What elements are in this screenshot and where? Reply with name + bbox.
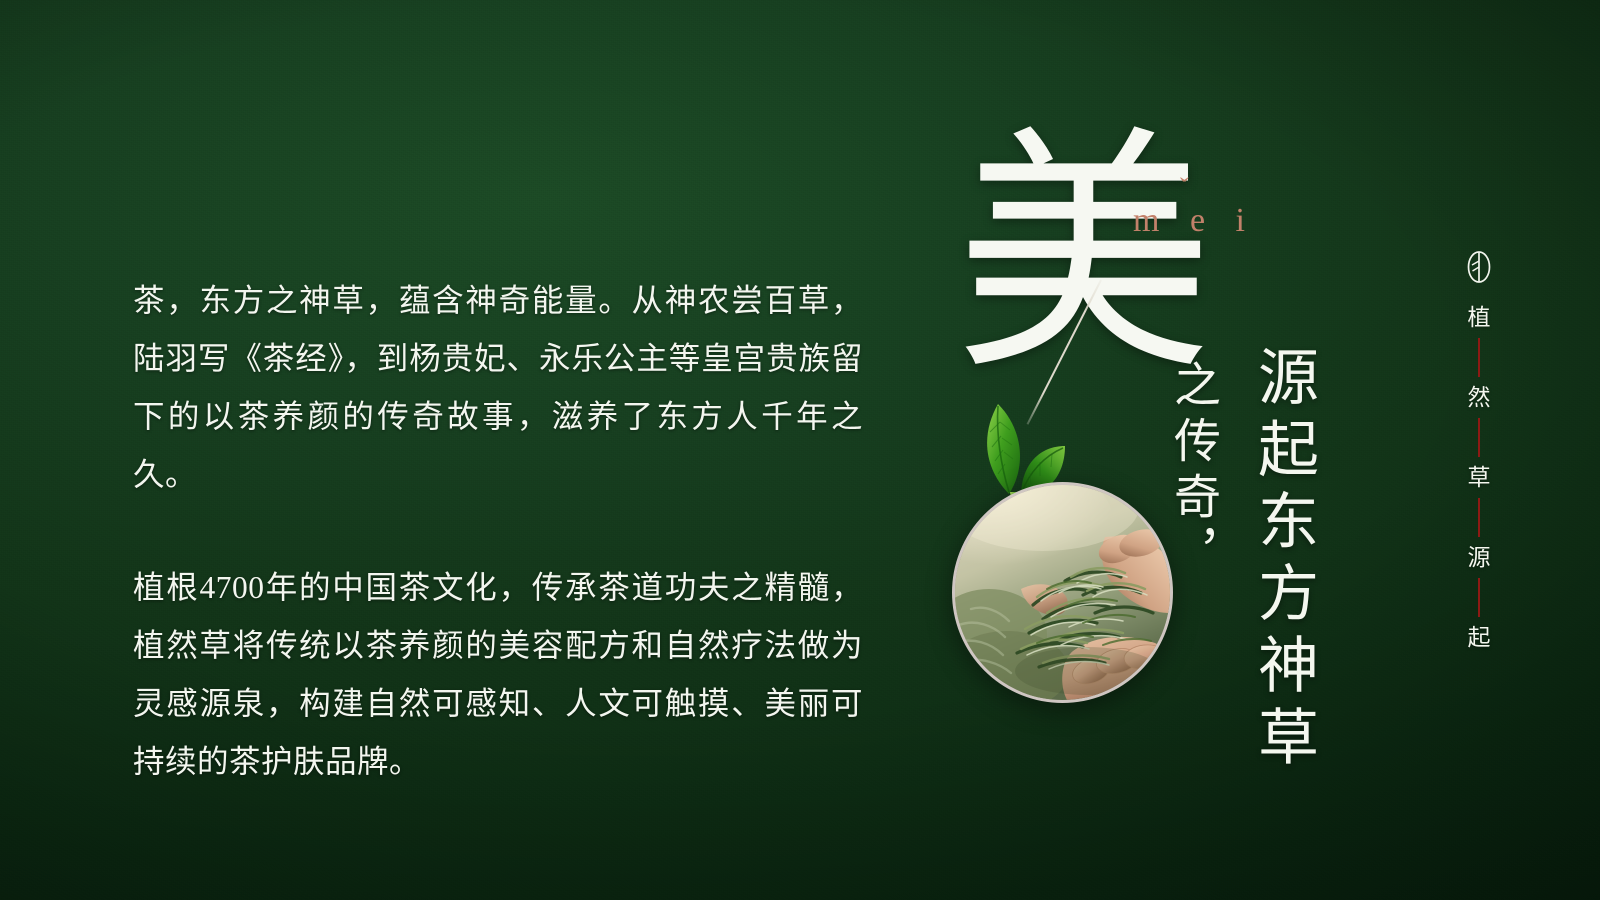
rail-divider-0 — [1478, 338, 1480, 377]
rail-char-4: 起 — [1468, 626, 1491, 649]
body-copy-block: 茶，东方之神草，蕴含神奇能量。从神农尝百草，陆羽写《茶经》，到杨贵妃、永乐公主等… — [133, 272, 863, 791]
pinyin-letters: m e i — [1133, 202, 1256, 239]
brand-rail: 植 然 草 源 起 — [1449, 250, 1509, 649]
rail-char-2: 草 — [1468, 466, 1491, 489]
hero-big-character: 美 — [955, 128, 1213, 386]
hero-character-group: 美 ˇ m e i — [955, 128, 1213, 386]
tea-leaf-logo-icon[interactable] — [1466, 250, 1492, 289]
pinyin-tone-mark: ˇ — [1180, 173, 1189, 203]
paragraph-one: 茶，东方之神草，蕴含神奇能量。从神农尝百草，陆羽写《茶经》，到杨贵妃、永乐公主等… — [133, 272, 863, 504]
tea-leaves-photo — [952, 482, 1173, 703]
rail-char-0: 植 — [1468, 306, 1491, 329]
vertical-subheading: 之传奇， — [1158, 360, 1227, 584]
rail-divider-3 — [1478, 578, 1480, 617]
poster-canvas: 茶，东方之神草，蕴含神奇能量。从神农尝百草，陆羽写《茶经》，到杨贵妃、永乐公主等… — [0, 0, 1600, 900]
paragraph-two: 植根4700年的中国茶文化，传承茶道功夫之精髓，植然草将传统以茶养颜的美容配方和… — [133, 559, 863, 791]
rail-divider-1 — [1478, 418, 1480, 457]
rail-divider-2 — [1478, 498, 1480, 537]
hero-pinyin: ˇ m e i — [1133, 202, 1256, 240]
vertical-headline: 源起东方神草 — [1237, 345, 1326, 777]
rail-char-3: 源 — [1468, 546, 1491, 569]
rail-char-1: 然 — [1468, 386, 1491, 409]
